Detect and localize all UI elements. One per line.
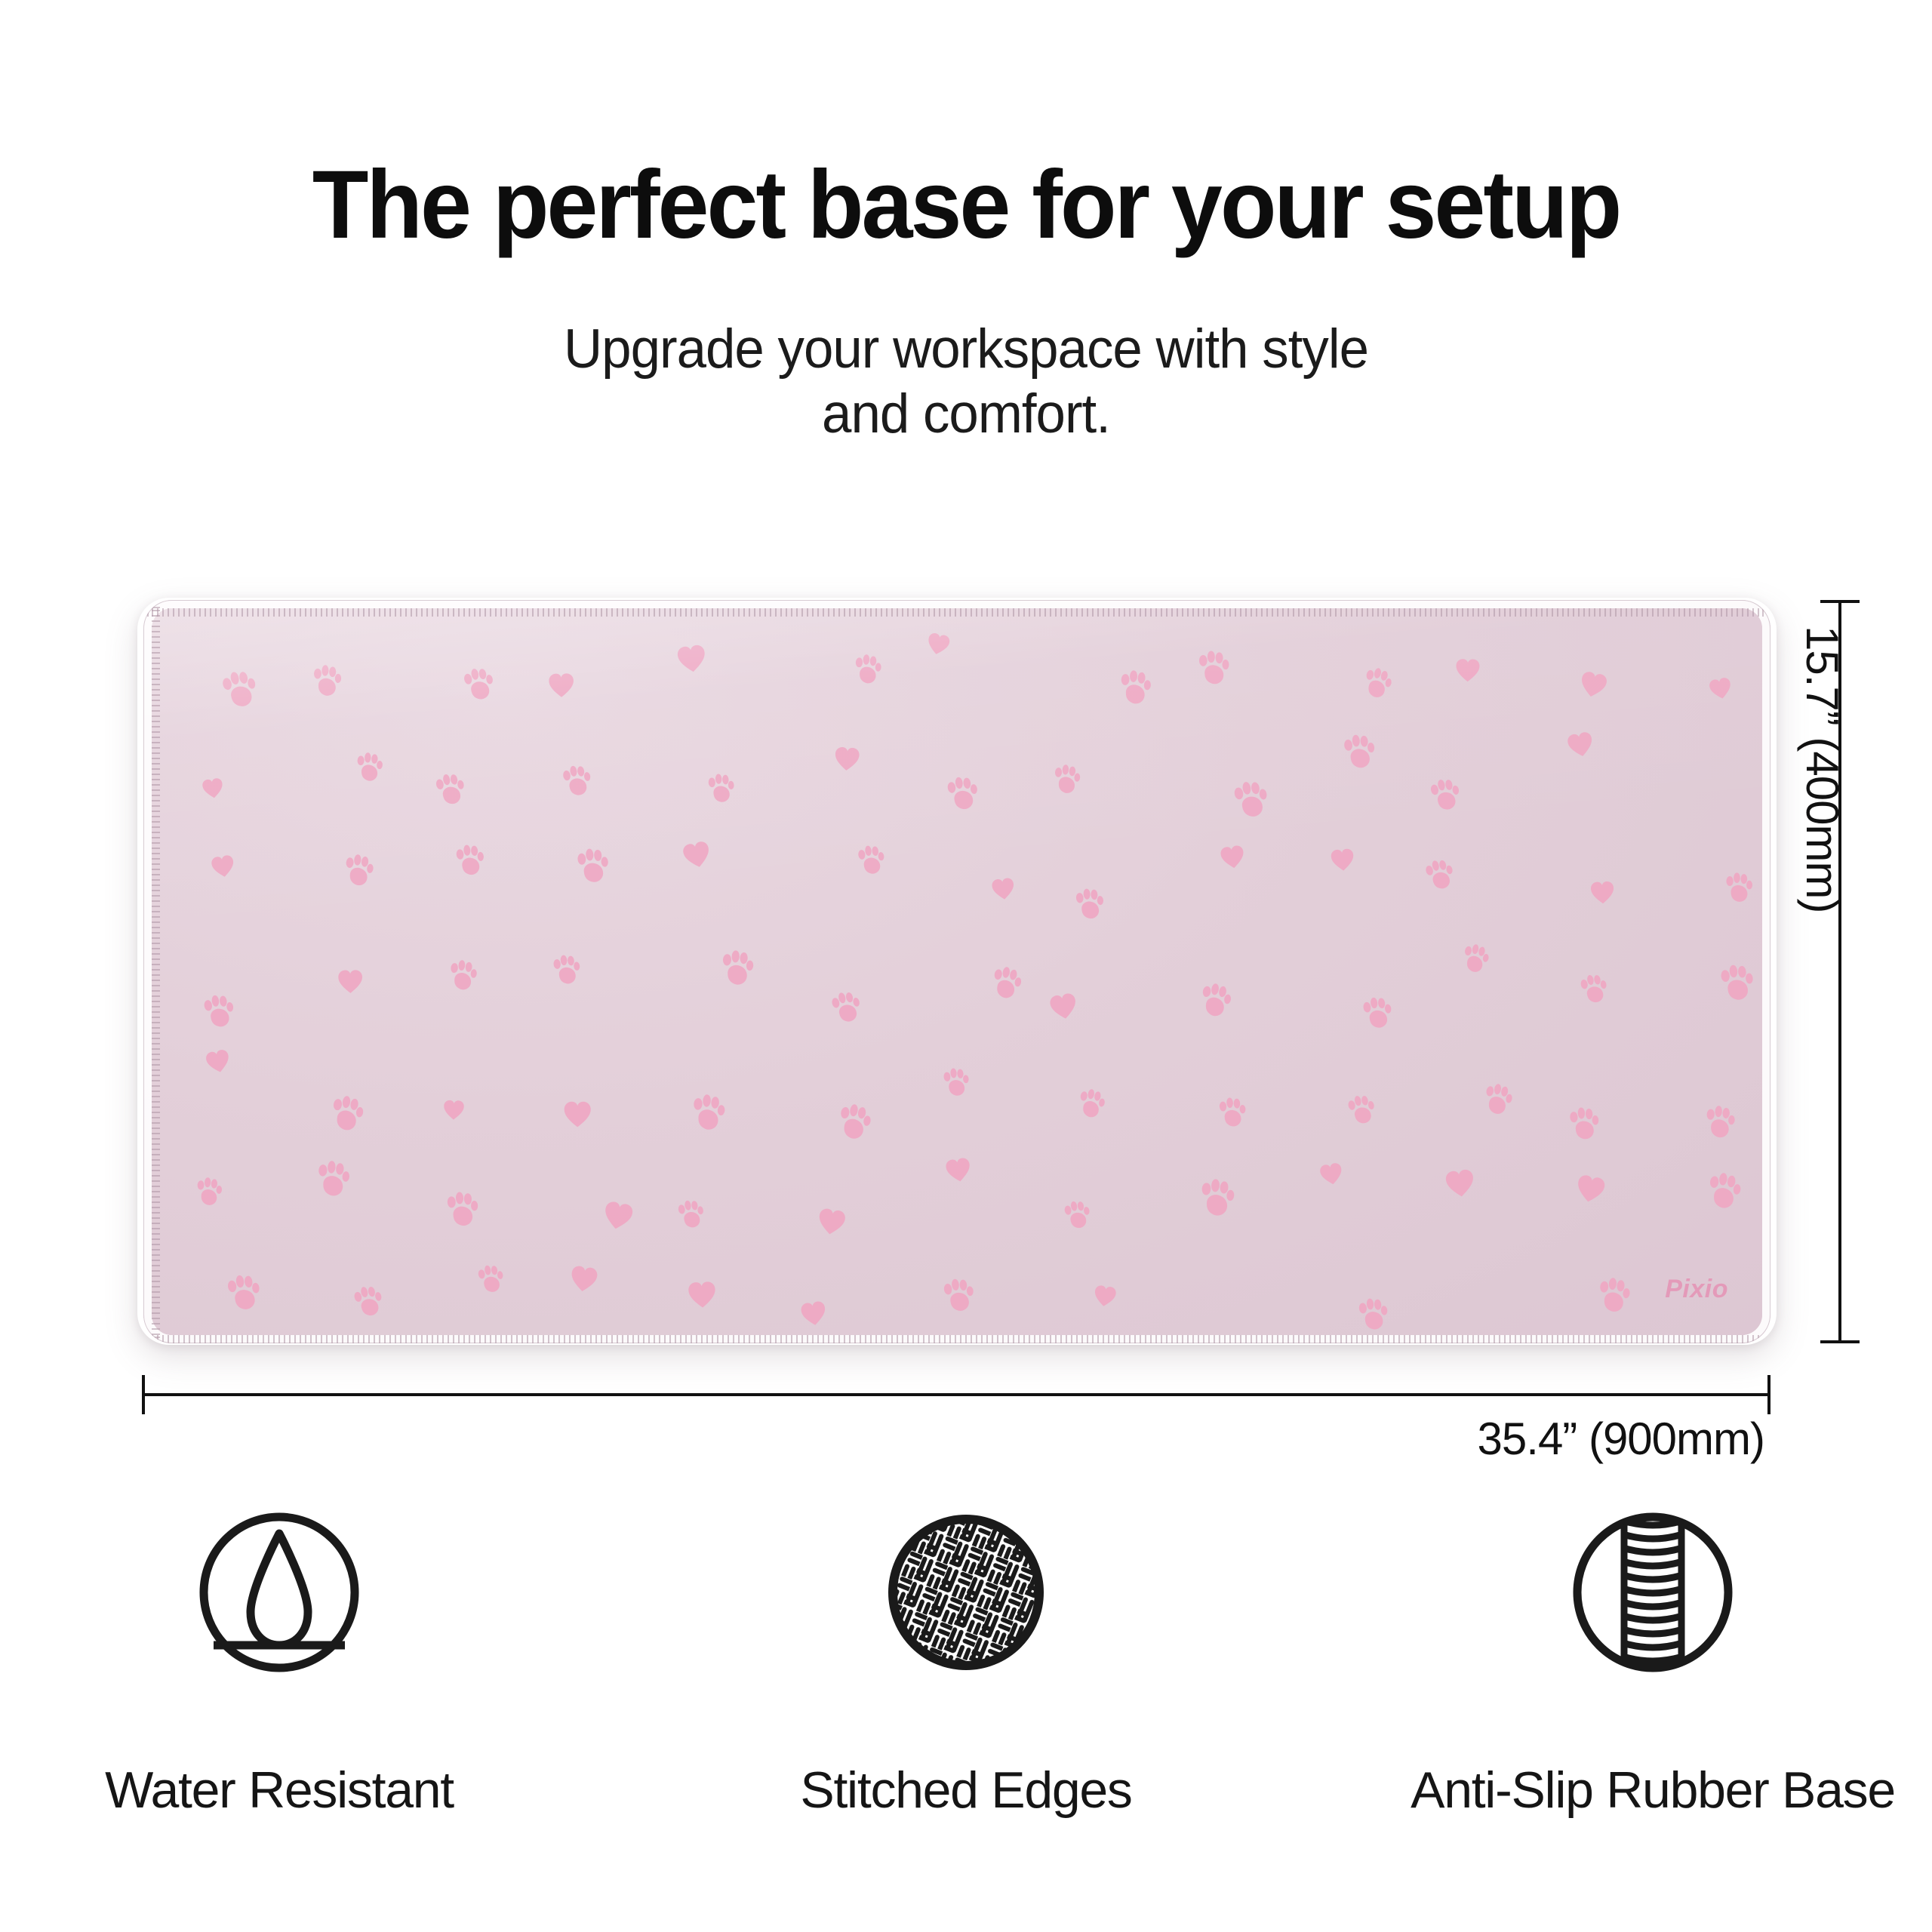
desk-mat: Pixio bbox=[143, 600, 1770, 1343]
dimension-cap-right bbox=[1767, 1375, 1770, 1414]
feature-label: Stitched Edges bbox=[679, 1761, 1253, 1820]
feature-list: Water Resistant bbox=[0, 1509, 1932, 1872]
feature-label: Water Resistant bbox=[0, 1761, 566, 1820]
ribbed-rubber-icon bbox=[1570, 1509, 1736, 1675]
woven-fabric-icon bbox=[883, 1509, 1049, 1675]
water-drop-icon bbox=[196, 1509, 362, 1675]
dimension-line-horizontal bbox=[143, 1393, 1770, 1396]
feature-label: Anti-Slip Rubber Base bbox=[1366, 1761, 1932, 1820]
feature-stitched-edges: Stitched Edges bbox=[679, 1509, 1253, 1820]
dimension-cap-left bbox=[142, 1375, 145, 1414]
desk-mat-edge bbox=[143, 600, 1770, 1343]
dimension-label-width: 35.4” (900mm) bbox=[0, 1413, 1770, 1465]
feature-water-resistant: Water Resistant bbox=[0, 1509, 566, 1820]
feature-anti-slip-rubber-base: Anti-Slip Rubber Base bbox=[1366, 1509, 1932, 1820]
dimension-label-height: 15.7” (400mm) bbox=[1792, 600, 1853, 1343]
